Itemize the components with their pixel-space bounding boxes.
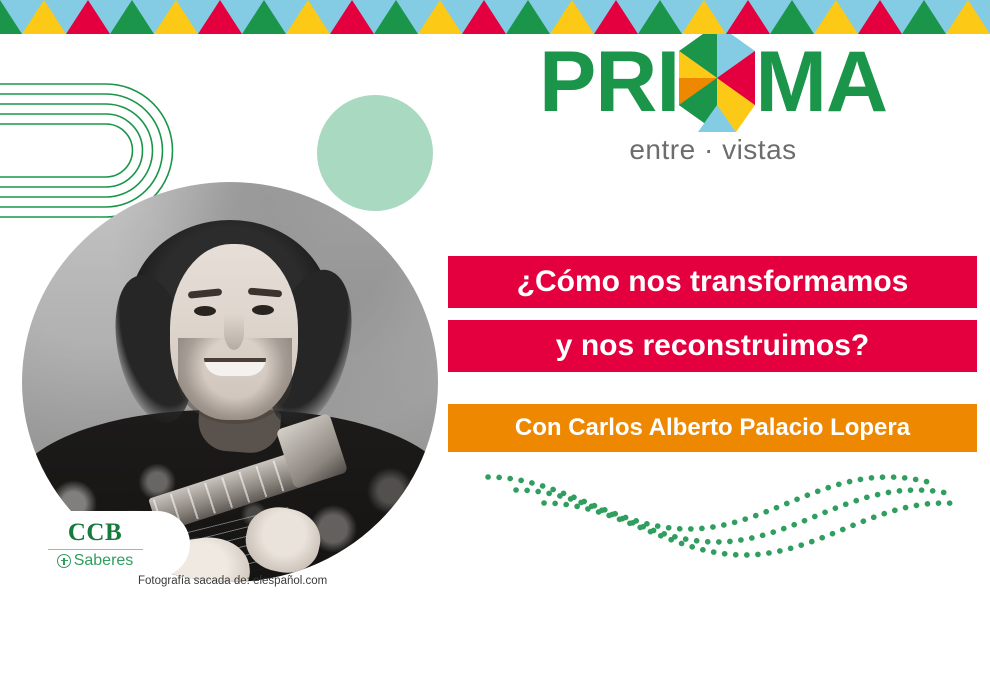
photo-credit-caption: Fotografía sacada de: elespañol.com [138, 575, 327, 587]
ccb-divider [48, 549, 143, 550]
ccb-saberes-logo: CCB Saberes [0, 511, 190, 577]
triangle-band-svg [0, 0, 990, 34]
ccb-sub-label: Saberes [74, 553, 134, 569]
prisma-hexagon-logo [679, 24, 755, 132]
speaker-name-band: Con Carlos Alberto Palacio Lopera [448, 404, 977, 452]
portrait-beard [178, 338, 292, 424]
portrait-eye-right [252, 305, 274, 315]
dotted-waves-svg [480, 468, 980, 668]
ccb-wordmark: CCB [68, 520, 122, 545]
portrait-mouth [204, 358, 266, 376]
portrait-nose [224, 314, 244, 350]
circle-plus-icon [57, 554, 71, 568]
headline-line-2: y nos reconstruimos? [448, 320, 977, 372]
prisma-wordmark: PRI [539, 34, 887, 130]
ccb-sub-lockup: Saberes [57, 553, 134, 569]
headline-line-1: ¿Cómo nos transformamos [448, 256, 977, 308]
portrait-eye-left [194, 306, 216, 316]
prisma-subtitle: entre · vistas [629, 134, 796, 166]
prisma-logo: PRI [448, 34, 978, 189]
decorative-dotted-waves [480, 468, 980, 668]
wordmark-right-letters: MA [755, 39, 887, 125]
decorative-triangle-band [0, 0, 990, 34]
wordmark-left-letters: PRI [539, 39, 679, 125]
